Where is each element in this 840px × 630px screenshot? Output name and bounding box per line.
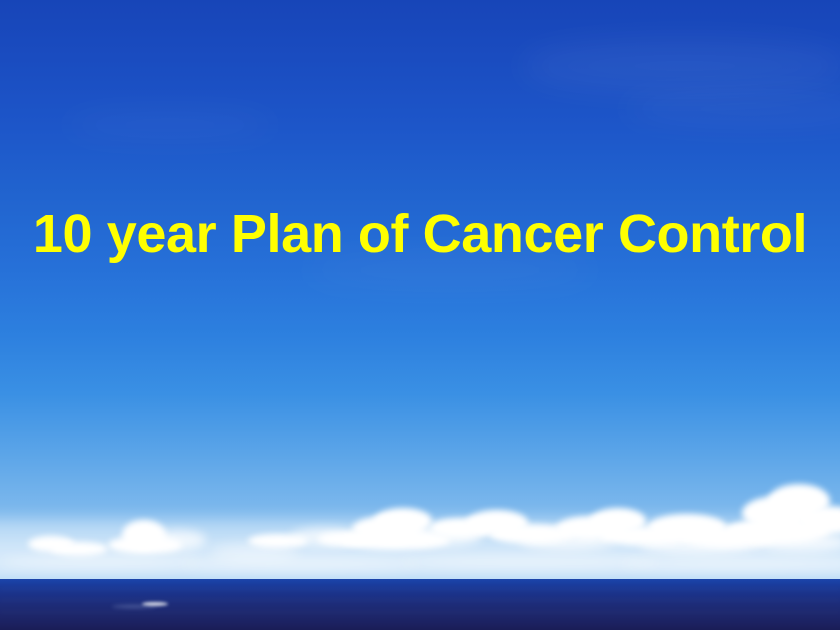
cloud-puff (752, 532, 840, 552)
sky-haze (620, 92, 840, 126)
slide-title: 10 year Plan of Cancer Control (0, 203, 840, 265)
ocean-band (0, 611, 840, 613)
cloud-puff (150, 530, 206, 550)
slide-canvas: 10 year Plan of Cancer Control (0, 0, 840, 630)
sky-haze (60, 110, 280, 140)
ocean-glint (142, 602, 168, 606)
sky-haze (520, 40, 840, 92)
ocean-band (0, 599, 840, 601)
cloud-puff (0, 556, 200, 568)
cloud-puff (50, 542, 108, 556)
ocean-background (0, 579, 840, 630)
cloud-puff (180, 558, 420, 570)
ocean-band (0, 588, 840, 590)
cloud-band (0, 470, 840, 580)
